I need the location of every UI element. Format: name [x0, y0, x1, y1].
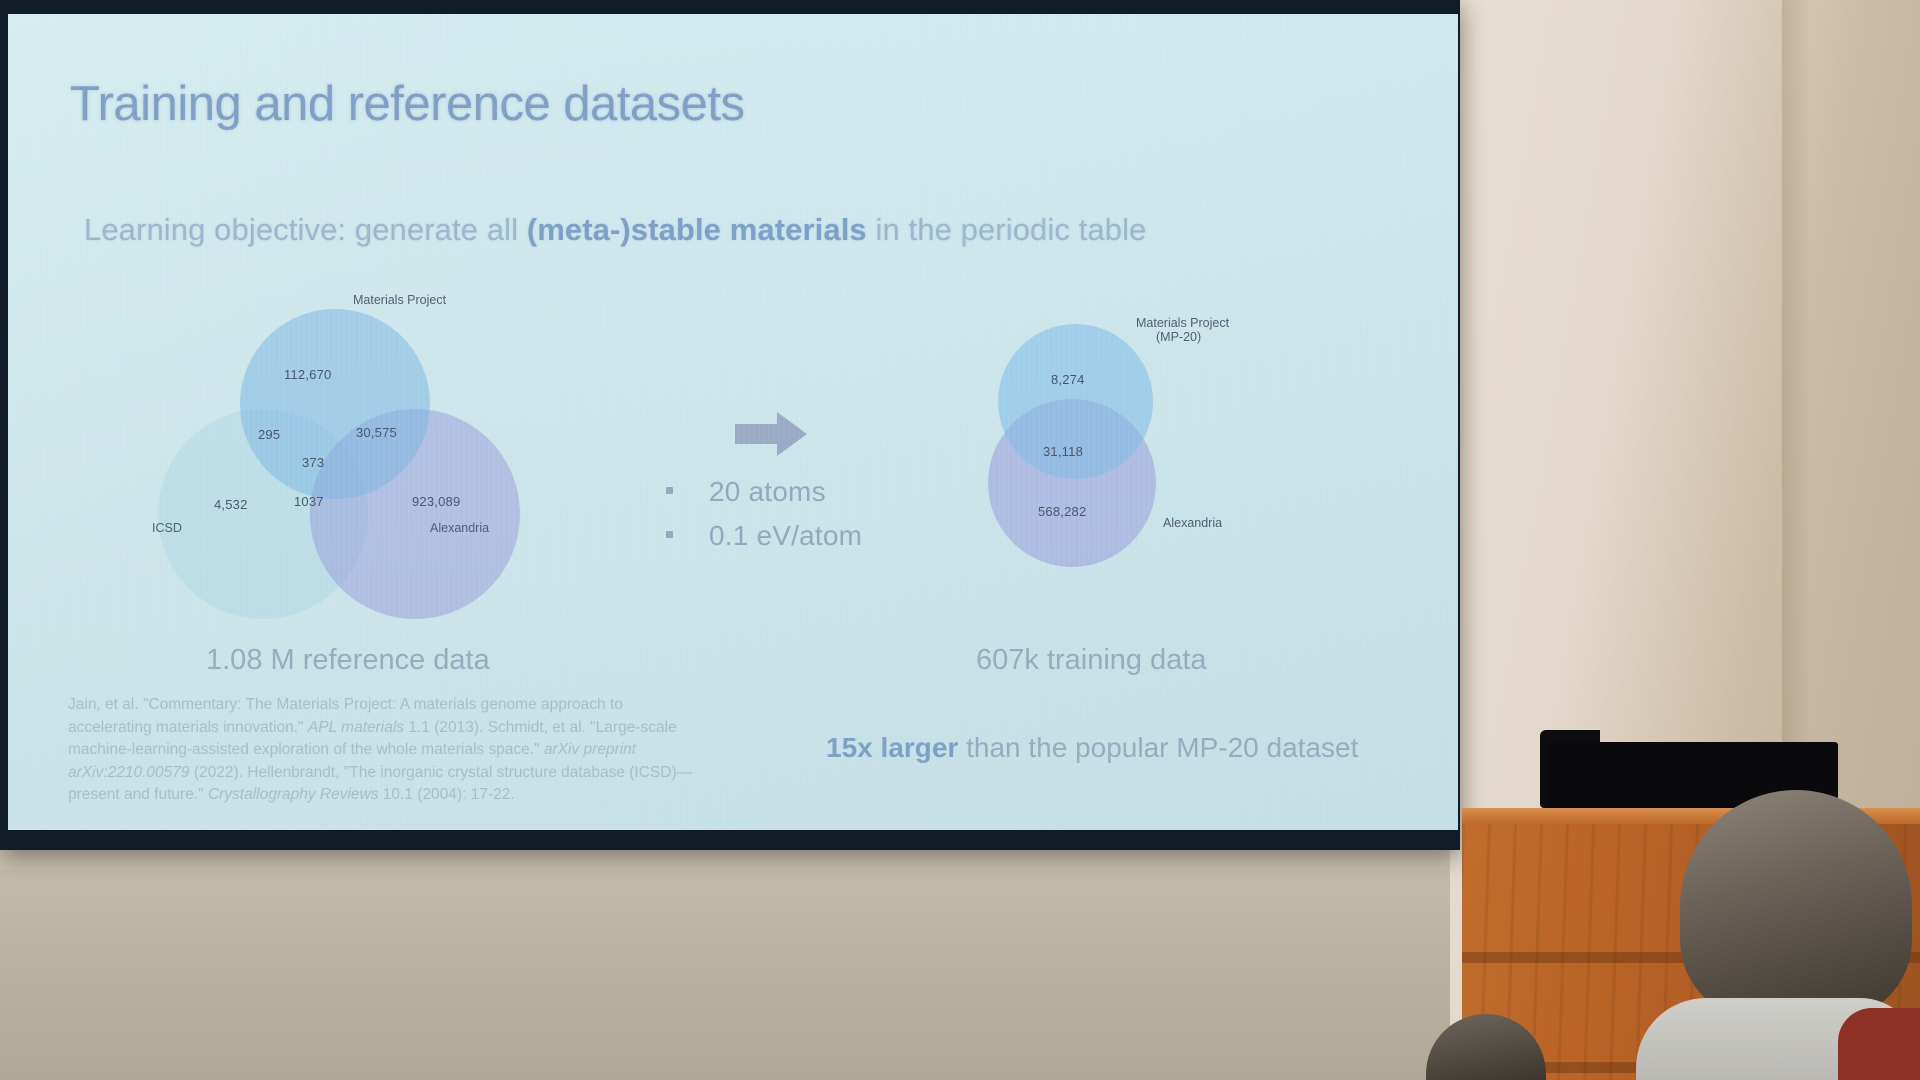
venn-diagram-reference: Materials Project ICSD Alexandria 112,67… [158, 309, 588, 639]
venn-value-mp-icsd: 295 [258, 427, 280, 442]
subtitle-emphasis: (meta-)stable materials [527, 212, 867, 247]
projection-screen-bezel: Training and reference datasets Learning… [0, 0, 1460, 850]
citation-3-tail: 10.1 (2004): 17-22. [379, 786, 515, 803]
venn-circle-materials-project [240, 309, 430, 499]
venn-value-mp20-only: 8,274 [1051, 372, 1085, 387]
citation-1-tail: 1.1 (2013). [404, 719, 483, 736]
audience-member-head [1680, 790, 1912, 1020]
arrow-shaft [735, 424, 780, 444]
right-arrow-icon [735, 412, 807, 456]
bullet-label: 0.1 eV/atom [709, 520, 862, 552]
screenshot-stage: Training and reference datasets Learning… [0, 0, 1920, 1080]
venn-value-alexandria-only: 923,089 [412, 494, 460, 509]
subtitle-after: in the periodic table [867, 212, 1147, 247]
venn-value-icsd-only: 4,532 [214, 497, 248, 512]
venn-value-mp20-alexandria: 31,118 [1043, 444, 1083, 459]
caption-reference-data: 1.08 M reference data [206, 644, 490, 677]
venn-label-alexandria-training: Alexandria [1163, 516, 1222, 530]
filter-bullet-list: 20 atoms 0.1 eV/atom [666, 476, 862, 564]
room-wall [0, 840, 1460, 1080]
subtitle-before: Learning objective: generate all [84, 212, 527, 247]
list-item: 0.1 eV/atom [666, 520, 862, 552]
venn-label-mp20: Materials Project [1136, 316, 1229, 330]
citation-3-journal: Crystallography Reviews [208, 786, 379, 803]
venn-label-mp20-sub: (MP-20) [1156, 330, 1201, 344]
venn-value-icsd-alexandria: 1037 [294, 494, 324, 509]
venn-diagram-training: Materials Project (MP-20) Alexandria 8,2… [988, 324, 1308, 589]
bullet-dot-icon [666, 531, 673, 538]
citation-1-journal: APL materials [308, 719, 404, 736]
comparison-emphasis: 15x larger [826, 732, 958, 763]
citation-2-tail: (2022). [190, 764, 243, 781]
venn-value-mp-alexandria: 30,575 [356, 425, 397, 440]
presentation-slide: Training and reference datasets Learning… [8, 14, 1458, 830]
comparison-statement: 15x larger than the popular MP-20 datase… [826, 732, 1358, 764]
bullet-label: 20 atoms [709, 476, 826, 508]
venn-value-all-three: 373 [302, 455, 324, 470]
arrow-head [777, 412, 807, 456]
venn-label-materials-project: Materials Project [353, 293, 446, 307]
venn-label-alexandria: Alexandria [430, 521, 489, 535]
page-title: Training and reference datasets [70, 76, 745, 132]
audience-member-collar [1838, 1008, 1920, 1080]
citation-block: Jain, et al. "Commentary: The Materials … [68, 694, 708, 807]
slide-subtitle: Learning objective: generate all (meta-)… [84, 212, 1146, 248]
venn-value-alexandria-training-only: 568,282 [1038, 504, 1086, 519]
venn-label-icsd: ICSD [152, 521, 182, 535]
bullet-dot-icon [666, 487, 673, 494]
caption-training-data: 607k training data [976, 644, 1207, 677]
venn-value-mp-only: 112,670 [284, 367, 331, 382]
comparison-rest: than the popular MP-20 dataset [958, 732, 1358, 763]
list-item: 20 atoms [666, 476, 862, 508]
